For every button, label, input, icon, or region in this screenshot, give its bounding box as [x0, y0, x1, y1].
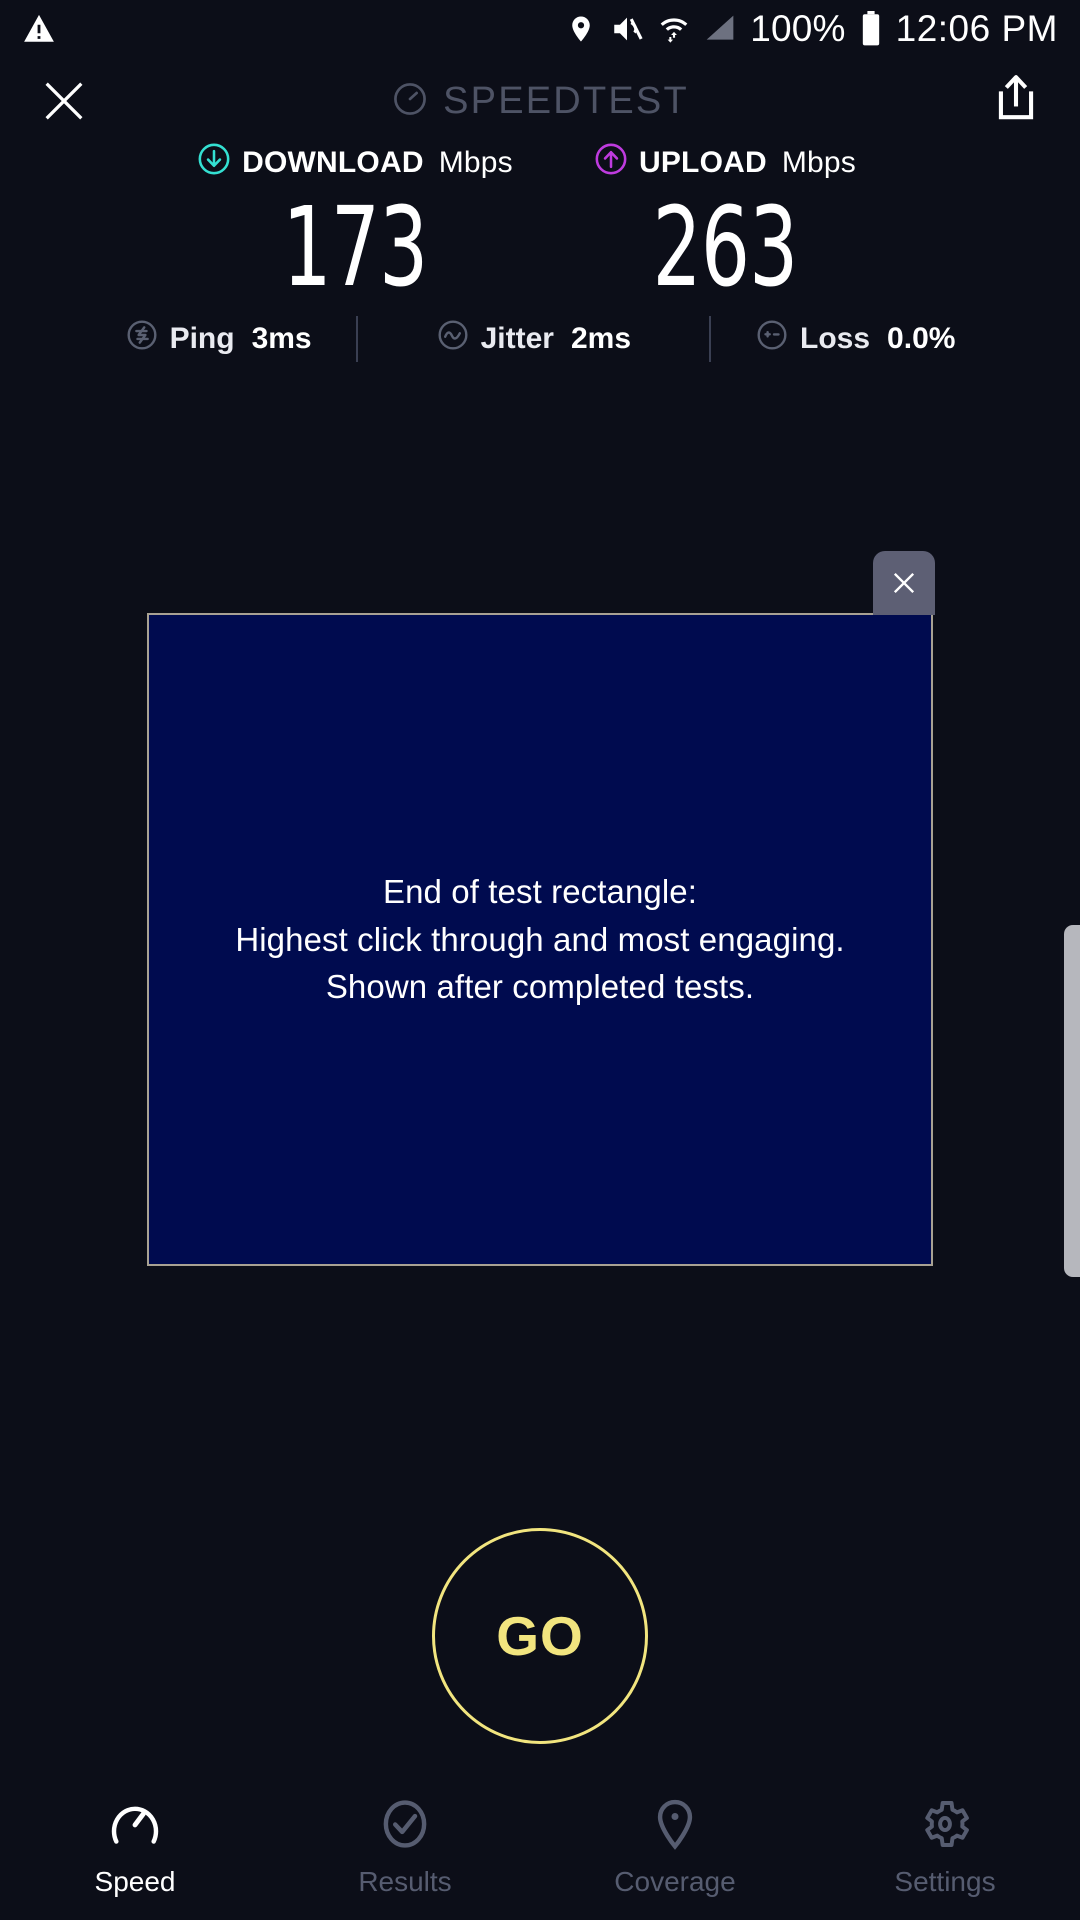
stats-divider	[709, 316, 711, 362]
arrow-up-circle-icon	[594, 142, 628, 184]
stat-loss: Loss 0.0%	[755, 318, 955, 360]
close-icon[interactable]	[38, 75, 90, 127]
stat-jitter: Jitter 2ms	[436, 318, 631, 360]
location-pin-icon	[566, 12, 596, 46]
ping-icon	[125, 318, 159, 360]
wifi-transfer-icon	[658, 12, 690, 46]
advertisement[interactable]: End of test rectangle: Highest click thr…	[147, 613, 933, 1266]
stats-divider	[356, 316, 358, 362]
brand-title: SPEEDTEST	[443, 80, 689, 123]
nav-item-speed[interactable]: Speed	[0, 1796, 270, 1898]
nav-item-results[interactable]: Results	[270, 1796, 540, 1898]
go-button[interactable]: GO	[432, 1528, 648, 1744]
ad-line-3: Shown after completed tests.	[235, 963, 844, 1011]
cellular-signal-icon	[704, 13, 736, 45]
scrollbar-thumb[interactable]	[1064, 925, 1080, 1277]
nav-label-results: Results	[358, 1866, 451, 1898]
upload-value: 263	[577, 192, 873, 302]
download-value: 173	[207, 192, 503, 302]
gear-icon	[917, 1796, 973, 1852]
app-header: SPEEDTEST	[0, 58, 1080, 144]
ad-line-2: Highest click through and most engaging.	[235, 916, 844, 964]
jitter-label: Jitter	[481, 322, 554, 356]
results-panel: DOWNLOAD Mbps 173 UPLOAD Mbps 263	[0, 142, 1080, 362]
status-bar: 100% 12:06 PM	[0, 0, 1080, 58]
share-icon[interactable]	[990, 72, 1042, 130]
loss-value: 0.0%	[887, 322, 955, 356]
battery-full-icon	[860, 11, 882, 47]
location-pin-icon	[647, 1796, 703, 1852]
go-button-wrapper: GO	[432, 1528, 648, 1744]
ad-line-1: End of test rectangle:	[235, 868, 844, 916]
stat-ping: Ping 3ms	[125, 318, 312, 360]
brand-logo: SPEEDTEST	[0, 58, 1080, 144]
mute-icon	[610, 12, 644, 46]
download-label: DOWNLOAD	[242, 146, 424, 180]
ping-value: 3ms	[252, 322, 312, 356]
loss-icon	[755, 318, 789, 360]
speedometer-icon	[391, 80, 429, 123]
battery-percent: 100%	[750, 8, 845, 50]
ping-label: Ping	[170, 322, 235, 356]
bottom-navigation: Speed Results Coverage Settings	[0, 1784, 1080, 1920]
nav-item-coverage[interactable]: Coverage	[540, 1796, 810, 1898]
nav-label-coverage: Coverage	[614, 1866, 735, 1898]
download-unit: Mbps	[439, 146, 513, 180]
jitter-icon	[436, 318, 470, 360]
connection-stats: Ping 3ms Jitter 2ms	[0, 316, 1080, 362]
jitter-value: 2ms	[571, 322, 631, 356]
ad-close-icon[interactable]	[873, 551, 935, 615]
check-circle-icon	[377, 1796, 433, 1852]
ad-text: End of test rectangle: Highest click thr…	[235, 868, 844, 1011]
speedometer-icon	[107, 1796, 163, 1852]
ad-banner[interactable]: End of test rectangle: Highest click thr…	[147, 613, 933, 1266]
upload-result: UPLOAD Mbps 263	[535, 142, 915, 302]
arrow-down-circle-icon	[197, 142, 231, 184]
upload-unit: Mbps	[782, 146, 856, 180]
nav-label-speed: Speed	[95, 1866, 176, 1898]
go-button-label: GO	[496, 1604, 584, 1668]
upload-label: UPLOAD	[639, 146, 767, 180]
status-time: 12:06 PM	[896, 8, 1058, 50]
warning-triangle-icon	[22, 12, 56, 46]
nav-item-settings[interactable]: Settings	[810, 1796, 1080, 1898]
download-result: DOWNLOAD Mbps 173	[165, 142, 545, 302]
nav-label-settings: Settings	[894, 1866, 995, 1898]
loss-label: Loss	[800, 322, 870, 356]
